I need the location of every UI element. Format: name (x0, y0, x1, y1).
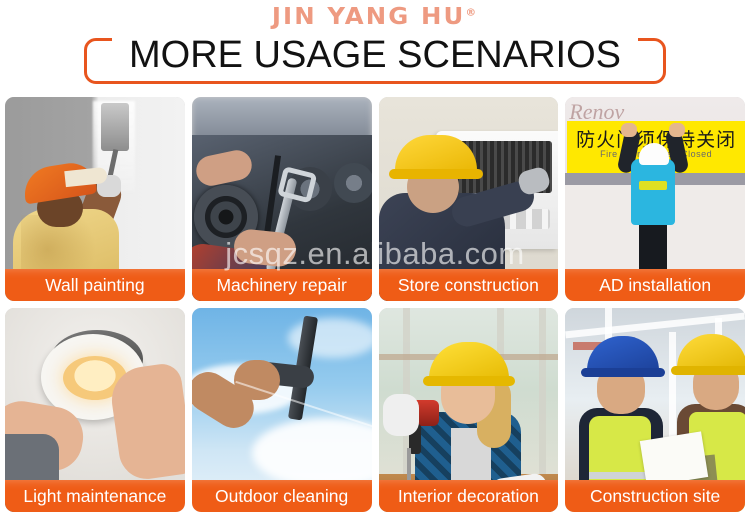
scenario-grid: Wall painting Machinery repair Store con… (5, 97, 745, 512)
scenario-caption: AD installation (565, 269, 745, 301)
scenario-caption: Light maintenance (5, 480, 185, 512)
scenario-caption: Outdoor cleaning (192, 480, 372, 512)
scenario-caption: Construction site (565, 480, 745, 512)
scenario-card-light-maintenance[interactable]: Light maintenance (5, 308, 185, 512)
page-title: MORE USAGE SCENARIOS (84, 32, 666, 78)
scenario-card-ad-installation[interactable]: Renov 防火门须保持关闭 Fire door to Keep Closed … (565, 97, 745, 301)
registered-trademark-icon: ® (465, 7, 478, 18)
scenario-caption: Store construction (379, 269, 559, 301)
scenario-card-machinery-repair[interactable]: Machinery repair (192, 97, 372, 301)
brand-logo: JIN YANG HU® (0, 4, 750, 30)
title-banner: MORE USAGE SCENARIOS (84, 38, 666, 84)
page-header: JIN YANG HU® MORE USAGE SCENARIOS (0, 0, 750, 92)
brand-name: JIN YANG HU (272, 4, 466, 30)
scenario-card-construction-site[interactable]: Construction site (565, 308, 745, 512)
scenario-card-wall-painting[interactable]: Wall painting (5, 97, 185, 301)
scenario-caption: Wall painting (5, 269, 185, 301)
scenario-card-store-construction[interactable]: Store construction (379, 97, 559, 301)
scenario-card-interior-decoration[interactable]: Interior decoration (379, 308, 559, 512)
scenario-caption: Interior decoration (379, 480, 559, 512)
scenario-card-outdoor-cleaning[interactable]: Outdoor cleaning (192, 308, 372, 512)
scenario-caption: Machinery repair (192, 269, 372, 301)
